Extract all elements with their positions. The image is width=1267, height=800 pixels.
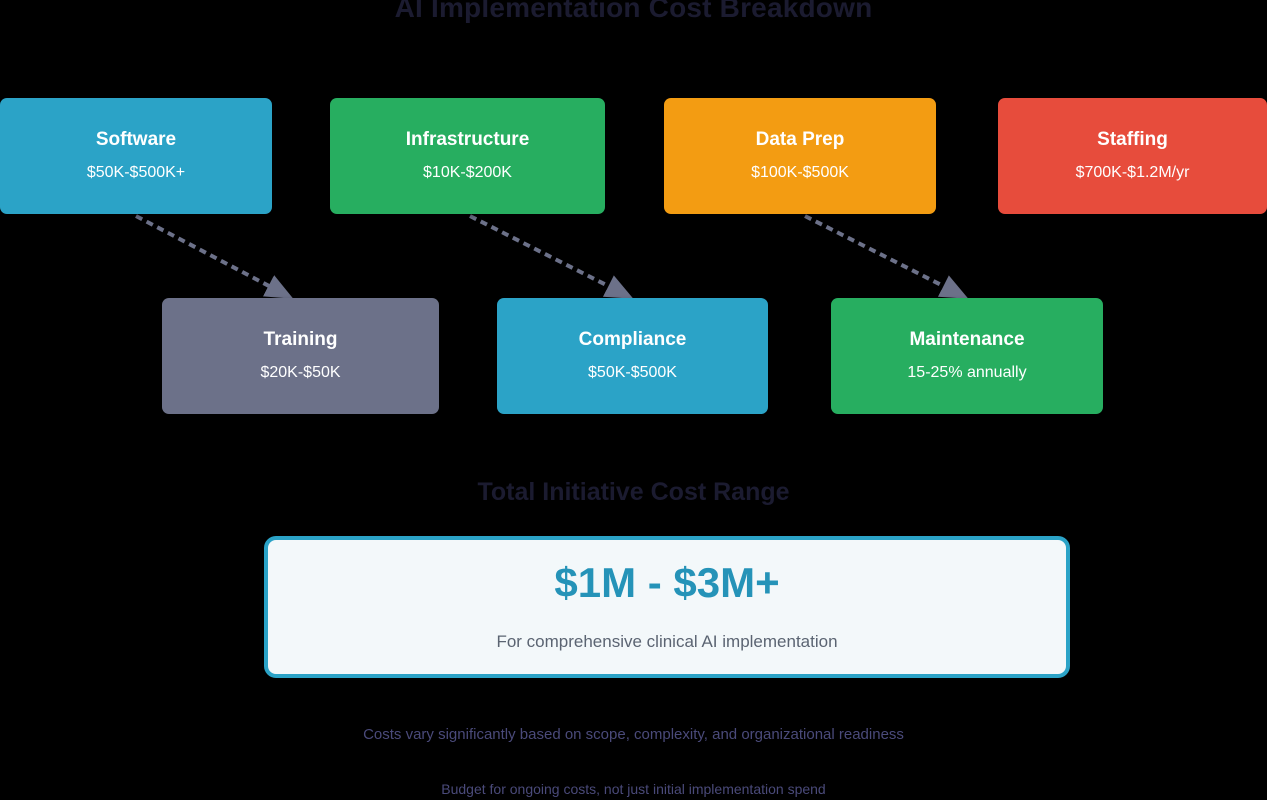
total-cost-amount: $1M - $3M+	[554, 562, 779, 604]
cost-card-value: $20K-$50K	[260, 364, 340, 382]
cost-card-title: Data Prep	[756, 130, 845, 151]
cost-card-title: Compliance	[579, 330, 687, 351]
cost-card-value: $700K-$1.2M/yr	[1076, 164, 1190, 182]
cost-card-title: Staffing	[1097, 130, 1168, 151]
cost-card-value: $50K-$500K+	[87, 164, 185, 182]
total-section-title: Total Initiative Cost Range	[0, 478, 1267, 507]
connector-infrastructure-to-compliance	[470, 216, 628, 296]
cost-card-training[interactable]: Training $20K-$50K	[162, 298, 439, 414]
cost-card-value: $10K-$200K	[423, 164, 512, 182]
footnote-primary: Costs vary significantly based on scope,…	[0, 726, 1267, 743]
cost-card-value: $50K-$500K	[588, 364, 677, 382]
cost-card-title: Software	[96, 130, 176, 151]
cost-card-maintenance[interactable]: Maintenance 15-25% annually	[831, 298, 1103, 414]
cost-card-staffing[interactable]: Staffing $700K-$1.2M/yr	[998, 98, 1267, 214]
cost-card-title: Maintenance	[909, 330, 1024, 351]
connector-software-to-training	[136, 216, 288, 296]
cost-card-value: 15-25% annually	[907, 364, 1026, 382]
cost-card-value: $100K-$500K	[751, 164, 849, 182]
total-cost-box: $1M - $3M+ For comprehensive clinical AI…	[264, 536, 1070, 678]
connector-dataprep-to-maintenance	[805, 216, 963, 296]
cost-card-software[interactable]: Software $50K-$500K+	[0, 98, 272, 214]
footnote-secondary: Budget for ongoing costs, not just initi…	[0, 781, 1267, 797]
total-cost-caption: For comprehensive clinical AI implementa…	[496, 632, 837, 652]
cost-card-data-prep[interactable]: Data Prep $100K-$500K	[664, 98, 936, 214]
diagram-canvas: AI Implementation Cost Breakdown Softwar…	[0, 0, 1267, 800]
cost-card-infrastructure[interactable]: Infrastructure $10K-$200K	[330, 98, 605, 214]
cost-card-compliance[interactable]: Compliance $50K-$500K	[497, 298, 768, 414]
page-title: AI Implementation Cost Breakdown	[0, 0, 1267, 24]
cost-card-title: Infrastructure	[406, 130, 530, 151]
cost-card-title: Training	[264, 330, 338, 351]
